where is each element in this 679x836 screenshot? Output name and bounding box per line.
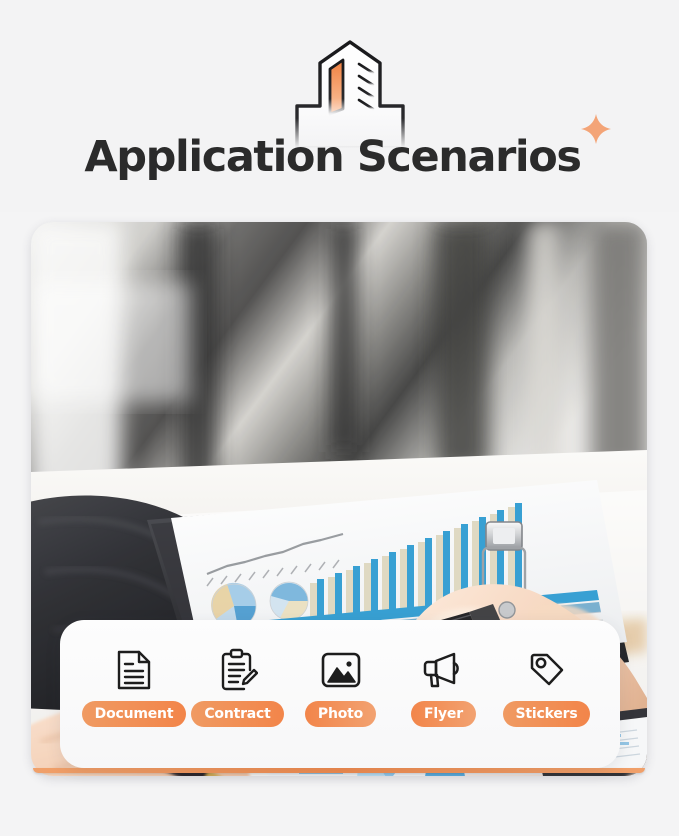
chip-item-flyer[interactable]: Flyer (392, 648, 495, 727)
sparkle-icon (579, 112, 613, 146)
chip-label-flyer[interactable]: Flyer (411, 701, 476, 727)
document-icon (112, 648, 156, 692)
chip-label-photo[interactable]: Photo (305, 701, 376, 727)
chip-label-document[interactable]: Document (82, 701, 187, 727)
page-title: Application Scenarios (84, 130, 580, 184)
chip-item-photo[interactable]: Photo (289, 648, 392, 727)
title-row: Application Scenarios (0, 130, 679, 184)
scenario-chip-card: Document Contract Photo (60, 620, 620, 768)
photo-accent-bar (33, 768, 645, 773)
chip-item-stickers[interactable]: Stickers (495, 648, 598, 727)
megaphone-icon (422, 648, 466, 692)
price-tag-icon (525, 648, 569, 692)
chip-item-document[interactable]: Document (82, 648, 186, 727)
chip-item-contract[interactable]: Contract (186, 648, 289, 727)
header-section: Application Scenarios (0, 0, 679, 212)
clipboard-pen-icon (216, 648, 260, 692)
chip-label-contract[interactable]: Contract (191, 701, 283, 727)
chip-label-stickers[interactable]: Stickers (503, 701, 591, 727)
image-icon (319, 648, 363, 692)
